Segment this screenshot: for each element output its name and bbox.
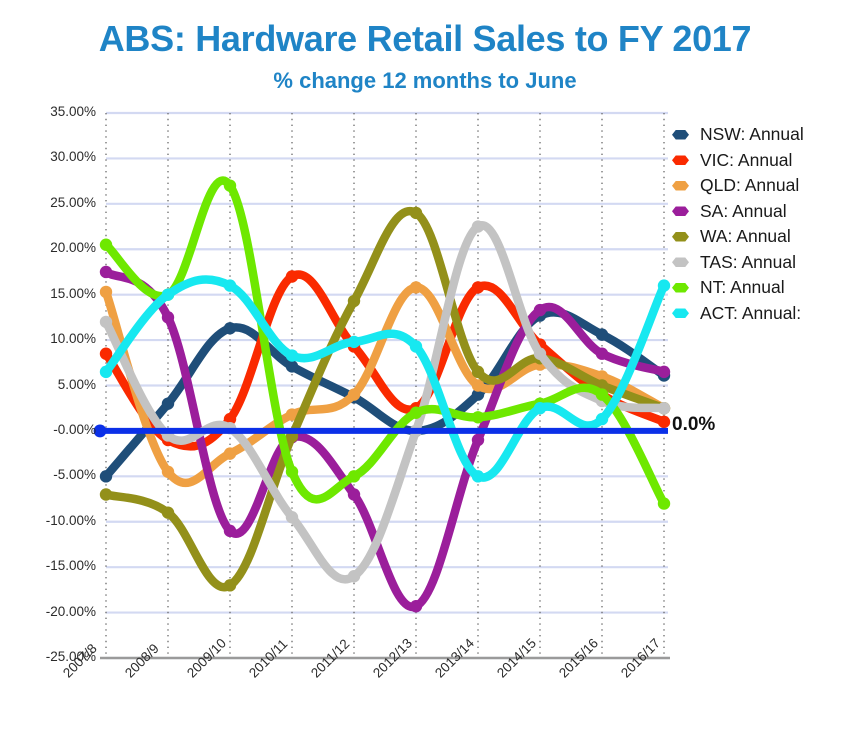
y-axis-tick-label: -5.00% <box>34 467 96 482</box>
zero-line-label: 0.0% <box>672 414 715 436</box>
data-point-marker <box>472 411 484 423</box>
plot-svg <box>0 0 850 735</box>
data-point-marker <box>286 270 298 282</box>
legend-item-label: ACT: Annual: <box>700 303 801 324</box>
chart-legend: NSW: AnnualVIC: AnnualQLD: AnnualSA: Ann… <box>672 122 850 326</box>
data-point-marker <box>224 322 236 334</box>
y-axis-tick-label: 25.00% <box>34 195 96 210</box>
data-point-marker <box>224 447 236 459</box>
data-point-marker <box>100 266 112 278</box>
data-point-marker <box>162 311 174 323</box>
legend-item[interactable]: NT: Annual <box>672 275 850 301</box>
legend-marker-icon <box>672 256 689 268</box>
data-point-marker <box>658 497 670 509</box>
y-axis-tick-label: 10.00% <box>34 331 96 346</box>
data-point-marker <box>534 304 546 316</box>
legend-item-label: QLD: Annual <box>700 175 799 196</box>
legend-marker-icon <box>672 129 689 141</box>
legend-item[interactable]: VIC: Annual <box>672 148 850 174</box>
legend-item[interactable]: TAS: Annual <box>672 250 850 276</box>
legend-marker-icon <box>672 307 689 319</box>
data-point-marker <box>658 366 670 378</box>
data-point-marker <box>658 402 670 414</box>
y-axis-tick-label: -20.00% <box>34 604 96 619</box>
legend-item-label: WA: Annual <box>700 226 791 247</box>
y-axis-tick-label: 30.00% <box>34 149 96 164</box>
data-point-marker <box>348 488 360 500</box>
data-point-marker <box>286 360 298 372</box>
data-point-marker <box>348 295 360 307</box>
data-point-marker <box>162 397 174 409</box>
data-point-marker <box>162 506 174 518</box>
data-point-marker <box>658 279 670 291</box>
data-point-marker <box>596 328 608 340</box>
data-point-marker <box>224 579 236 591</box>
y-axis-tick-label: -15.00% <box>34 558 96 573</box>
data-point-marker <box>100 316 112 328</box>
data-point-marker <box>100 348 112 360</box>
data-point-marker <box>100 366 112 378</box>
data-point-marker <box>410 340 422 352</box>
legend-marker-icon <box>672 231 689 243</box>
data-point-marker <box>286 466 298 478</box>
y-axis-tick-label: -0.00% <box>34 422 96 437</box>
data-point-marker <box>472 366 484 378</box>
legend-item-label: NT: Annual <box>700 277 785 298</box>
data-point-marker <box>410 281 422 293</box>
legend-marker-icon <box>672 180 689 192</box>
y-axis-tick-label: 35.00% <box>34 104 96 119</box>
legend-item[interactable]: WA: Annual <box>672 224 850 250</box>
data-point-marker <box>596 413 608 425</box>
legend-item[interactable]: ACT: Annual: <box>672 301 850 327</box>
plot-area <box>0 0 850 735</box>
chart-container: ABS: Hardware Retail Sales to FY 2017 % … <box>0 0 850 735</box>
data-point-marker <box>286 349 298 361</box>
data-point-marker <box>534 402 546 414</box>
legend-item[interactable]: NSW: Annual <box>672 122 850 148</box>
data-point-marker <box>534 348 546 360</box>
data-point-marker <box>224 525 236 537</box>
data-point-marker <box>224 279 236 291</box>
legend-item[interactable]: QLD: Annual <box>672 173 850 199</box>
data-point-marker <box>348 336 360 348</box>
data-point-marker <box>286 511 298 523</box>
y-axis-tick-label: 20.00% <box>34 240 96 255</box>
y-axis-tick-label: 5.00% <box>34 377 96 392</box>
legend-item-label: SA: Annual <box>700 201 787 222</box>
data-point-marker <box>472 434 484 446</box>
data-point-marker <box>596 388 608 400</box>
legend-item-label: VIC: Annual <box>700 150 792 171</box>
legend-item-label: TAS: Annual <box>700 252 796 273</box>
data-point-marker <box>410 600 422 612</box>
legend-marker-icon <box>672 154 689 166</box>
legend-marker-icon <box>672 205 689 217</box>
legend-item[interactable]: SA: Annual <box>672 199 850 225</box>
legend-marker-icon <box>672 282 689 294</box>
data-point-marker <box>410 207 422 219</box>
data-point-marker <box>596 348 608 360</box>
data-point-marker <box>162 466 174 478</box>
data-point-marker <box>100 286 112 298</box>
data-point-marker <box>472 470 484 482</box>
data-point-marker <box>348 570 360 582</box>
data-point-marker <box>100 488 112 500</box>
y-axis-tick-label: 15.00% <box>34 286 96 301</box>
data-point-marker <box>162 288 174 300</box>
legend-item-label: NSW: Annual <box>700 124 804 145</box>
data-point-marker <box>472 281 484 293</box>
data-point-marker <box>658 416 670 428</box>
data-point-marker <box>472 220 484 232</box>
data-point-marker <box>348 388 360 400</box>
data-point-marker <box>100 470 112 482</box>
data-point-marker <box>100 239 112 251</box>
data-point-marker <box>224 179 236 191</box>
y-axis-tick-label: -10.00% <box>34 513 96 528</box>
data-point-marker <box>348 470 360 482</box>
data-point-marker <box>410 407 422 419</box>
